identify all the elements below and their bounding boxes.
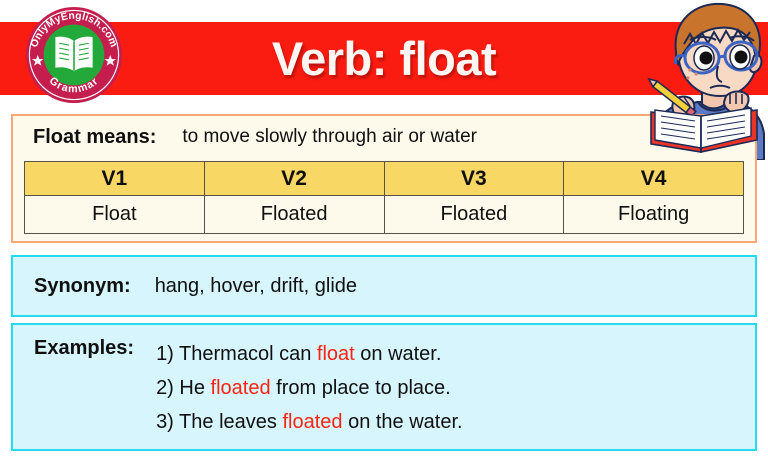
logo-badge-icon: OnlyMyEnglish.com Grammar: [25, 6, 123, 104]
example-after: on the water.: [343, 411, 463, 433]
examples-panel: Examples: 1) Thermacol can float on wate…: [11, 323, 757, 451]
example-after: from place to place.: [271, 377, 451, 399]
example-before: The leaves: [174, 411, 283, 433]
meaning-text: to move slowly through air or water: [182, 126, 477, 148]
list-item: 3) The leaves floated on the water.: [156, 405, 755, 439]
open-book-icon: [645, 100, 763, 158]
list-item: 2) He floated from place to place.: [156, 371, 755, 405]
example-before: He: [174, 377, 211, 399]
open-book-decoration: [645, 100, 763, 158]
page-header: Verb: float: [0, 0, 768, 110]
examples-label: Examples:: [34, 337, 134, 360]
table-cell-v4: Floating: [564, 196, 744, 234]
example-number: 1): [156, 343, 174, 365]
example-before: Thermacol can: [174, 343, 317, 365]
table-cell-v2: Floated: [204, 196, 384, 234]
meaning-label: Float means:: [33, 126, 156, 149]
example-number: 2): [156, 377, 174, 399]
table-row: Float Floated Floated Floating: [25, 196, 744, 234]
example-number: 3): [156, 411, 174, 433]
examples-list: 1) Thermacol can float on water. 2) He f…: [156, 337, 755, 439]
example-highlight: float: [317, 343, 355, 365]
table-header-row: V1 V2 V3 V4: [25, 162, 744, 196]
meaning-row: Float means: to move slowly through air …: [13, 116, 755, 158]
table-header-v2: V2: [204, 162, 384, 196]
site-logo: OnlyMyEnglish.com Grammar: [25, 6, 123, 104]
table-cell-v3: Floated: [384, 196, 564, 234]
example-highlight: floated: [282, 411, 342, 433]
synonym-panel: Synonym: hang, hover, drift, glide: [11, 255, 757, 317]
table-header-v3: V3: [384, 162, 564, 196]
example-after: on water.: [355, 343, 442, 365]
list-item: 1) Thermacol can float on water.: [156, 337, 755, 371]
example-highlight: floated: [211, 377, 271, 399]
synonym-label: Synonym:: [34, 275, 131, 298]
table-header-v1: V1: [25, 162, 205, 196]
verb-forms-table: V1 V2 V3 V4 Float Floated Floated Floati…: [24, 161, 744, 234]
table-header-v4: V4: [564, 162, 744, 196]
table-cell-v1: Float: [25, 196, 205, 234]
synonym-text: hang, hover, drift, glide: [155, 275, 357, 298]
